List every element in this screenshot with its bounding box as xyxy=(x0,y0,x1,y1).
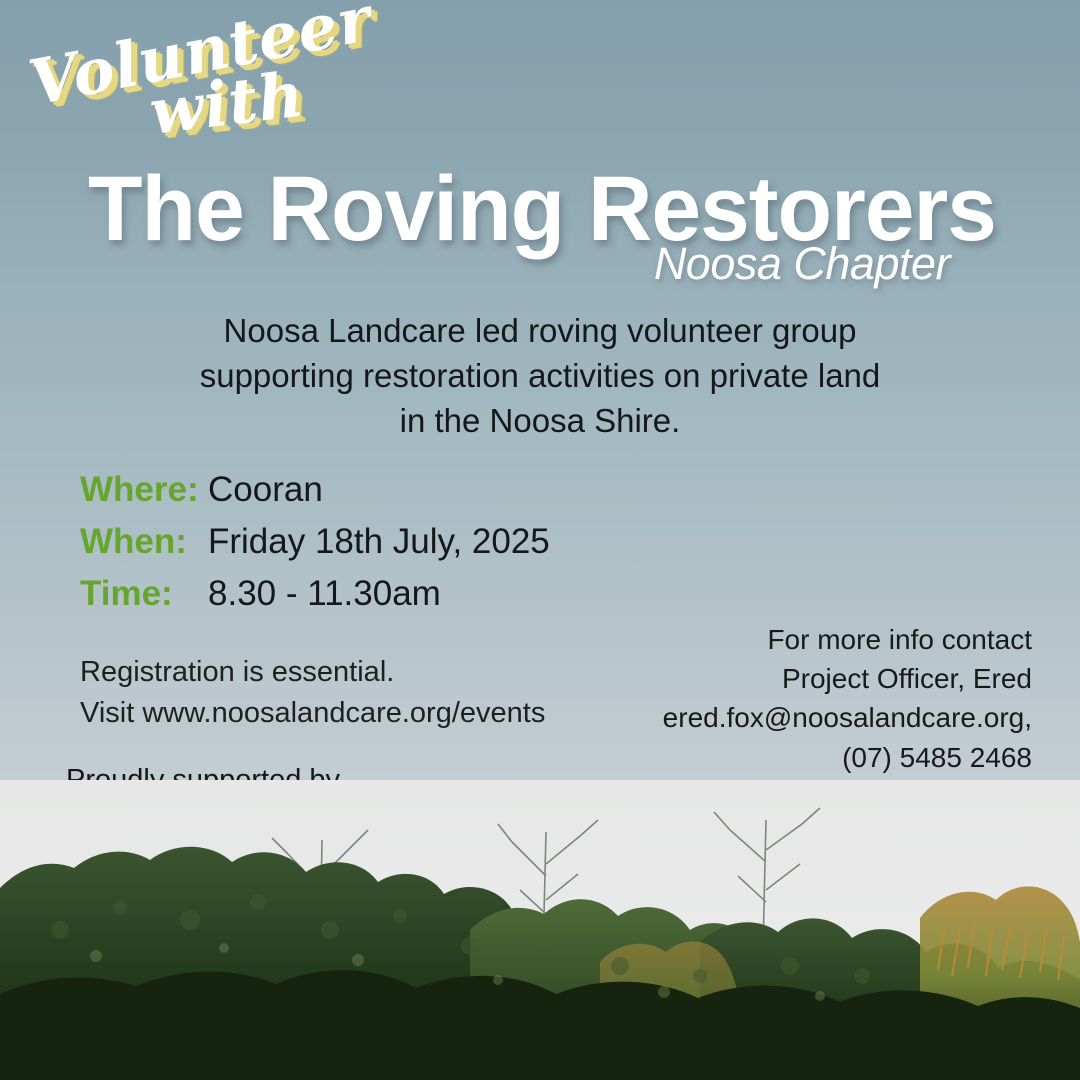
detail-value-when: Friday 18th July, 2025 xyxy=(208,522,550,562)
supported-by-label: Proudly supported by xyxy=(66,764,340,797)
event-details: Where: Cooran When: Friday 18th July, 20… xyxy=(80,470,550,626)
two-hands-australia-icon xyxy=(872,824,1032,913)
detail-label-when: When: xyxy=(80,522,208,562)
description-block: Noosa Landcare led roving volunteer grou… xyxy=(0,308,1080,444)
detail-label-time: Time: xyxy=(80,574,208,614)
description-line: in the Noosa Shire. xyxy=(0,398,1080,443)
logo-noosa-landcare: Noosa & District Landcare xyxy=(872,810,1032,982)
registration-line: Registration is essential. xyxy=(80,652,545,693)
description-line: Noosa Landcare led roving volunteer grou… xyxy=(0,308,1080,353)
contact-phone[interactable]: (07) 5485 2468 xyxy=(663,738,1032,777)
detail-label-where: Where: xyxy=(80,470,208,510)
detail-row-where: Where: Cooran xyxy=(80,470,550,510)
contact-person: Project Officer, Ered xyxy=(663,659,1032,698)
contact-heading: For more info contact xyxy=(663,620,1032,659)
hbl-tagline: connecting restoring protecting xyxy=(596,957,812,973)
noosa-council-wordmark: NOOSA Council xyxy=(175,812,332,884)
page-subtitle: Noosa Chapter xyxy=(654,238,950,290)
landcare-region: Noosa & District xyxy=(872,919,1032,941)
contact-email[interactable]: ered.fox@noosalandcare.org, xyxy=(663,698,1032,737)
detail-value-time: 8.30 - 11.30am xyxy=(208,574,441,614)
contact-block: For more info contact Project Officer, E… xyxy=(663,620,1032,777)
detail-row-time: Time: 8.30 - 11.30am xyxy=(80,574,550,614)
logo-noosa-council: NOOSA Council xyxy=(95,812,332,884)
logo-hinterland-bush-links: Hinterland Bush Links connecting restori… xyxy=(596,838,812,973)
poster-canvas: Volunteer with The Roving Restorers Noos… xyxy=(0,0,1080,1080)
registration-website[interactable]: Visit www.noosalandcare.org/events xyxy=(80,693,545,734)
noosa-council-subname: Council xyxy=(175,854,332,884)
four-petal-flower-icon xyxy=(95,812,161,883)
bird-icon xyxy=(604,911,804,928)
noosa-council-name: NOOSA xyxy=(175,812,332,852)
description-line: supporting restoration activities on pri… xyxy=(0,353,1080,398)
detail-value-where: Cooran xyxy=(208,470,323,510)
detail-row-when: When: Friday 18th July, 2025 xyxy=(80,522,550,562)
registration-block: Registration is essential. Visit www.noo… xyxy=(80,652,545,734)
landcare-name: Landcare xyxy=(872,942,1032,976)
hbl-name: Hinterland Bush Links xyxy=(596,931,812,955)
